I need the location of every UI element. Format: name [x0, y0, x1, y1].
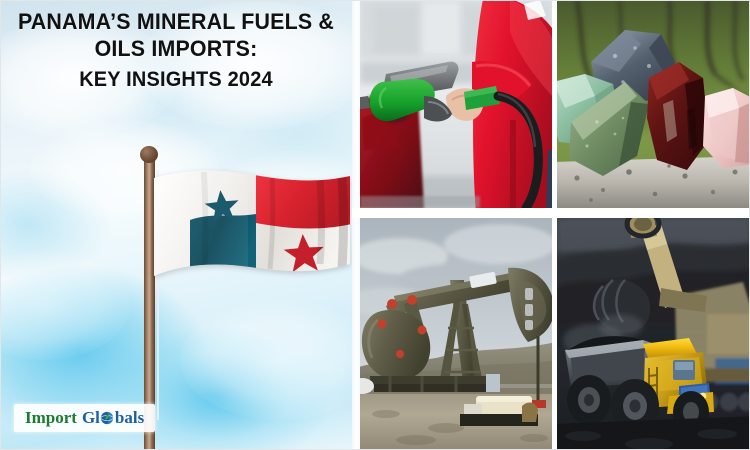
- title-line-3: KEY INSIGHTS 2024: [9, 67, 343, 93]
- photo-mineral-rocks: [557, 0, 750, 208]
- logo-text-globals-suffix: bals: [115, 409, 144, 426]
- brand-logo[interactable]: Import Gl bals: [14, 404, 155, 432]
- banner: PANAMA’S MINERAL FUELS & OILS IMPORTS: K…: [0, 0, 750, 450]
- panama-flag: [152, 168, 352, 313]
- logo-text-import: Import: [25, 409, 77, 426]
- left-hero-panel: PANAMA’S MINERAL FUELS & OILS IMPORTS: K…: [0, 0, 352, 450]
- title-line-1: PANAMA’S MINERAL FUELS &: [9, 8, 343, 35]
- photo-gutter-vertical: [552, 0, 557, 450]
- photo-fuel-pump-nozzle: [360, 0, 552, 208]
- flagpole-finial-icon: [140, 146, 158, 163]
- globe-icon: [100, 411, 114, 425]
- photo-coal-mining-truck: [557, 218, 750, 450]
- photo-gutter-horizontal: [352, 208, 750, 218]
- logo-text-globals-prefix: Gl: [82, 409, 100, 426]
- title-line-2: OILS IMPORTS:: [9, 35, 343, 62]
- page-title: PANAMA’S MINERAL FUELS & OILS IMPORTS: K…: [0, 8, 352, 92]
- photo-oil-pumpjack: [360, 218, 552, 450]
- panel-gutter-left: [352, 0, 360, 450]
